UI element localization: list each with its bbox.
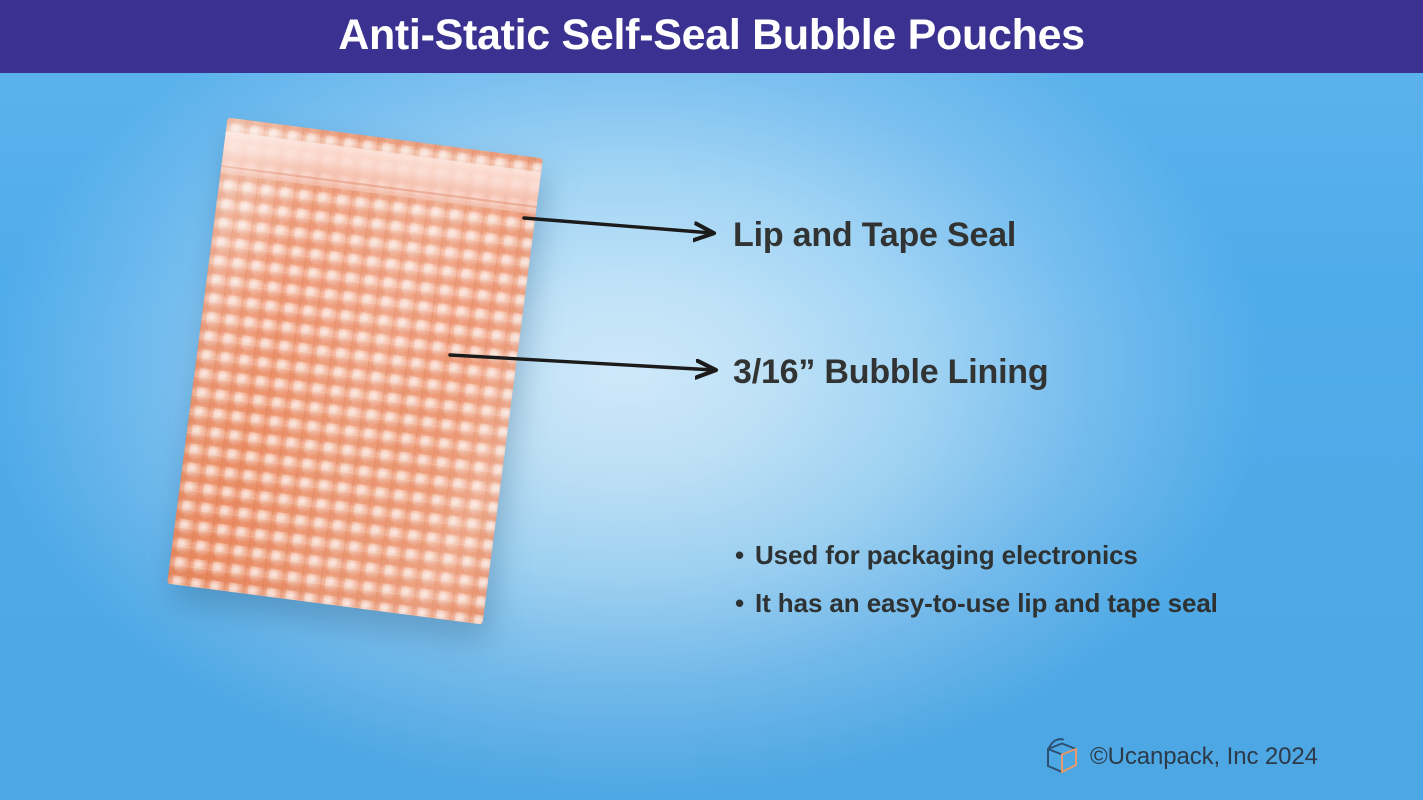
- page-title: Anti-Static Self-Seal Bubble Pouches: [0, 0, 1423, 73]
- product-image-bubble-pouch: [167, 117, 543, 624]
- bullet-text: Used for packaging electronics: [755, 531, 1138, 579]
- header-bar: Anti-Static Self-Seal Bubble Pouches: [0, 0, 1423, 73]
- feature-bullet-list: • Used for packaging electronics • It ha…: [735, 531, 1335, 627]
- pouch-body: [167, 117, 543, 624]
- bullet-dot-icon: •: [735, 579, 755, 627]
- callout-label-lip-and-tape-seal: Lip and Tape Seal: [733, 216, 1016, 255]
- infographic-slide: Anti-Static Self-Seal Bubble Pouches Lip…: [0, 0, 1423, 800]
- copyright-text: ©Ucanpack, Inc 2024: [1090, 743, 1318, 771]
- callout-label-bubble-lining: 3/16” Bubble Lining: [733, 353, 1048, 392]
- bullet-dot-icon: •: [735, 531, 755, 579]
- list-item: • Used for packaging electronics: [735, 531, 1335, 579]
- list-item: • It has an easy-to-use lip and tape sea…: [735, 579, 1335, 627]
- ucanpack-box-logo-icon: [1042, 734, 1088, 780]
- footer: ©Ucanpack, Inc 2024: [1042, 731, 1318, 783]
- bullet-text: It has an easy-to-use lip and tape seal: [755, 579, 1218, 627]
